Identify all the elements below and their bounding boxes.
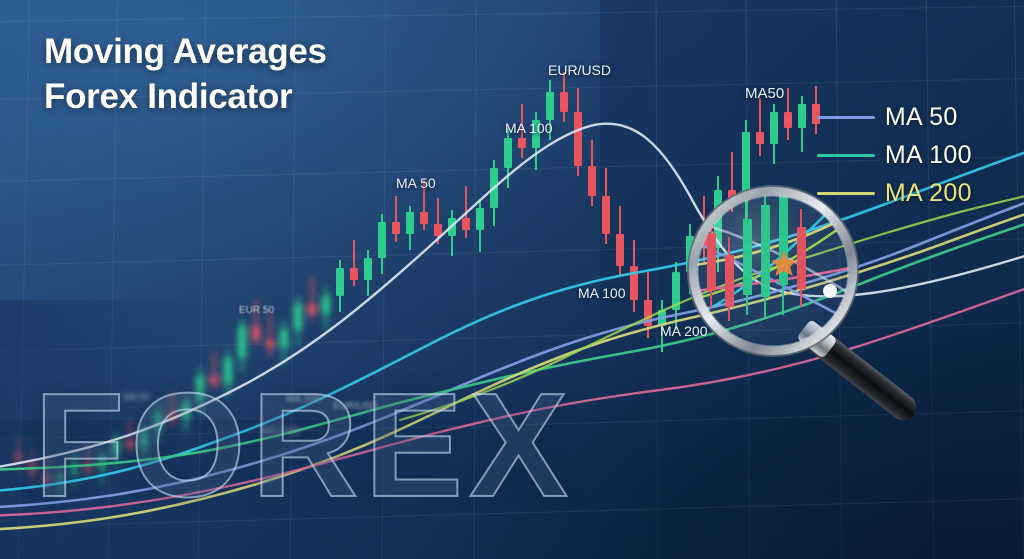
legend-item-label: MA 100 <box>885 141 972 170</box>
legend-item-label: MA 200 <box>885 179 972 208</box>
candle-body <box>406 212 414 234</box>
candle-body <box>756 132 764 144</box>
candle-body <box>392 222 400 234</box>
candle-body <box>280 330 288 348</box>
candle-body <box>574 112 582 166</box>
candle-body <box>336 268 344 296</box>
candle-body <box>602 196 610 234</box>
lens-center-dot <box>823 284 837 298</box>
legend: MA 50MA 100MA 200 <box>817 103 972 208</box>
candle-body <box>798 104 806 128</box>
legend-item-ma-100[interactable]: MA 100 <box>817 141 972 170</box>
candle-body <box>364 258 372 280</box>
banner-canvas: FOREX Moving AveragesForex Indicator MA … <box>0 0 1024 559</box>
candle-body <box>630 266 638 300</box>
candle-body <box>308 304 316 314</box>
candle-body <box>294 304 302 330</box>
page-title-line2: Forex Indicator <box>44 75 327 120</box>
candle-body <box>420 212 428 224</box>
candle-body <box>504 138 512 168</box>
magnifying-glass[interactable] <box>655 175 985 425</box>
legend-swatch-icon <box>817 116 875 119</box>
legend-item-ma-50[interactable]: MA 50 <box>817 103 972 132</box>
candle-body <box>532 120 540 148</box>
candle-body <box>210 376 218 384</box>
candle-body <box>616 234 624 266</box>
candle-body <box>546 92 554 120</box>
page-title-line1: Moving Averages <box>44 32 327 71</box>
candle-body <box>784 112 792 128</box>
legend-item-label: MA 50 <box>885 103 958 132</box>
candle-body <box>322 296 330 314</box>
legend-item-ma-200[interactable]: MA 200 <box>817 179 972 208</box>
page-title: Moving AveragesForex Indicator <box>44 30 327 120</box>
candle-body <box>560 92 568 112</box>
candle-body <box>238 326 246 358</box>
candle-body <box>588 166 596 196</box>
candle-body <box>378 222 386 258</box>
candle-body <box>266 340 274 348</box>
candle-body <box>476 208 484 230</box>
legend-swatch-icon <box>817 154 875 157</box>
candle-body <box>434 224 442 236</box>
legend-swatch-icon <box>817 192 875 195</box>
candle-body <box>770 112 778 144</box>
candle-body <box>252 326 260 340</box>
candle-body <box>224 358 232 384</box>
candle-body <box>350 268 358 280</box>
candle-body <box>462 218 470 230</box>
candle-body <box>518 138 526 148</box>
